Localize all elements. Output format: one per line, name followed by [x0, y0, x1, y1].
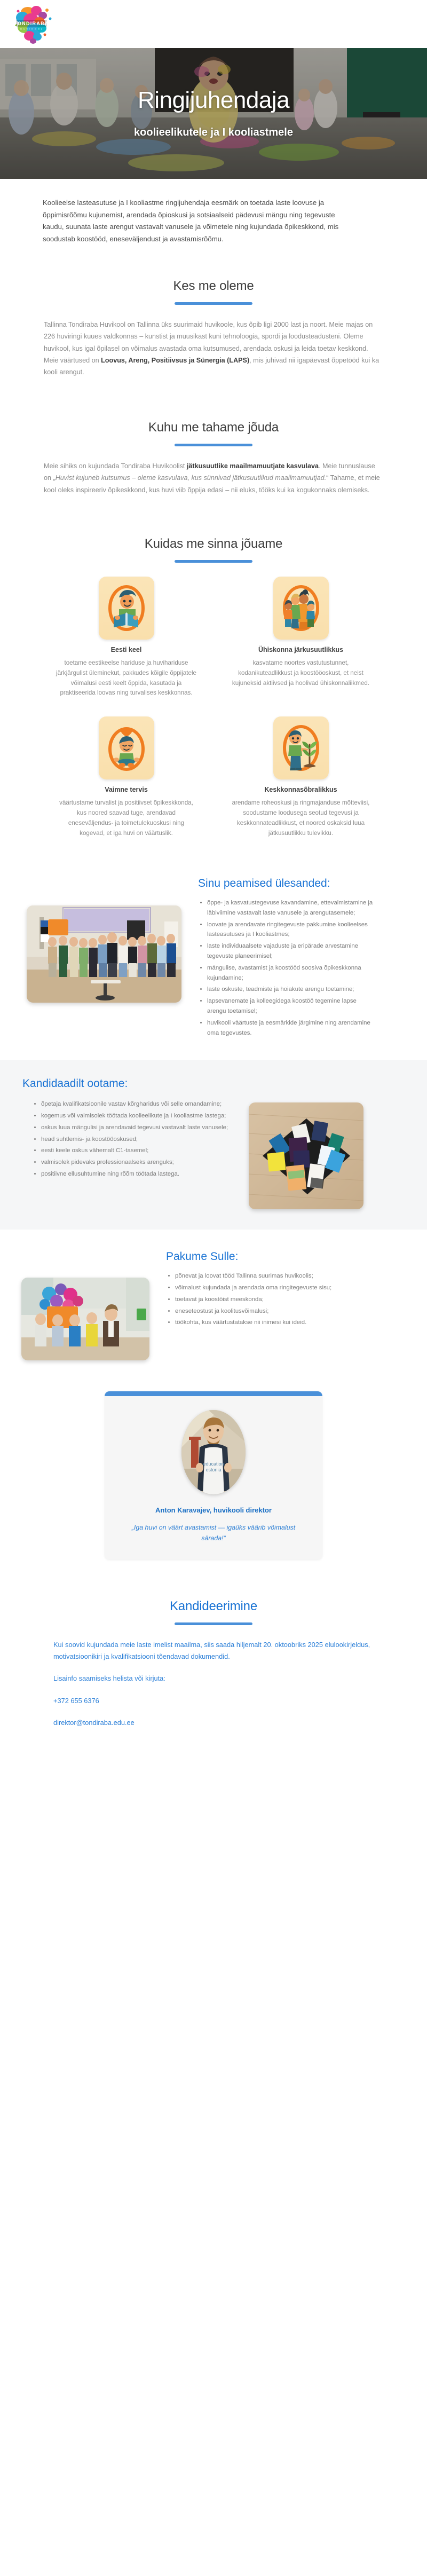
- card-title: Eesti keel: [53, 646, 199, 653]
- what-we-offer-list: põnevat ja loovat tööd Tallinna suurimas…: [166, 1271, 374, 1328]
- apply-section: Kandideerimine Kui soovid kujundada meie…: [0, 1578, 427, 1769]
- hero-title: Ringijuhendaja: [0, 88, 427, 113]
- intro-section: Koolieelse lasteasutuse ja I kooliastme …: [0, 179, 427, 267]
- card-description: arendame roheoskusi ja ringmajanduse mõt…: [228, 798, 374, 838]
- how-we-get-there-section: Kuidas me sinna jõuame: [0, 517, 427, 853]
- portrait-image: education estonia: [181, 1410, 246, 1494]
- card-description: kasvatame noortes vastutustunnet, kodani…: [228, 658, 374, 688]
- group-of-children-icon: [278, 581, 325, 635]
- card-title: Keskkonnasõbralikkus: [228, 786, 374, 793]
- main-tasks-heading: Sinu peamised ülesanded:: [198, 877, 374, 891]
- value-card: Keskkonnasõbralikkus arendame roheoskusi…: [228, 716, 374, 838]
- main-tasks-section: Sinu peamised ülesanded: õppe- ja kasvat…: [0, 853, 427, 1060]
- quote-text: „Iga huvi on väärt avastamist — igaüks v…: [121, 1523, 306, 1543]
- list-item: eesti keele oskus vähemalt C1-tasemel;: [41, 1146, 235, 1156]
- list-item: eneseteostust ja koolitusvõimalusi;: [175, 1306, 374, 1317]
- value-cards-grid: Eesti keel toetame eestikeelse hariduse …: [53, 577, 374, 838]
- hero-subtitle: koolieelikutele ja I kooliastmele: [0, 127, 427, 139]
- goal-text-1: Meie sihiks on kujundada Tondiraba Huvik…: [44, 462, 187, 470]
- list-item: valmisolek pidevaks professionaalseks ar…: [41, 1157, 235, 1168]
- what-we-offer-section: Pakume Sulle: põnevat ja loovat tööd Tal…: [0, 1230, 427, 1378]
- card-icon-frame: [273, 577, 329, 640]
- list-item: õppe- ja kasvatustegevuse kavandamine, e…: [207, 898, 374, 918]
- anton-karavajev-portrait: education estonia: [181, 1410, 246, 1494]
- who-we-are-section: Kes me oleme Tallinna Tondiraba Huvikool…: [0, 267, 427, 397]
- main-tasks-list: õppe- ja kasvatustegevuse kavandamine, e…: [198, 898, 374, 1038]
- card-description: väärtustame turvalist ja positiivset õpi…: [53, 798, 199, 838]
- section-divider-rule: [175, 560, 252, 563]
- books-on-floor-photo: [249, 1102, 363, 1209]
- director-quote-section: education estonia Anton Karavajev, huvik…: [0, 1378, 427, 1577]
- who-we-are-title: Kes me oleme: [0, 279, 427, 294]
- meditating-child-heart-icon: [103, 721, 150, 775]
- value-card: Eesti keel toetame eestikeelse hariduse …: [53, 577, 199, 698]
- who-we-are-paragraph: Tallinna Tondiraba Huvikool on Tallinna …: [44, 319, 383, 379]
- list-item: lapsevanemate ja kolleegidega koostöö te…: [207, 996, 374, 1017]
- tondiraba-logo[interactable]: TONDIRABA H U V I K O O L: [12, 4, 61, 44]
- candidate-expectations-section: Kandidaadilt ootame: õpetaja kvalifikats…: [0, 1060, 427, 1230]
- card-title: Ühiskonna järkusuutlikkus: [228, 646, 374, 653]
- team-group-photo-image: [27, 905, 181, 1003]
- goal-slogan: Huvist kujuneb kutsumus – oleme kasvulav…: [56, 474, 327, 482]
- who-we-are-values: Loovus, Areng, Positiivsus ja Sünergia (…: [101, 357, 249, 364]
- section-divider-rule: [175, 302, 252, 305]
- child-planting-tree-icon: [278, 721, 325, 775]
- how-title: Kuidas me sinna jõuame: [0, 537, 427, 552]
- logo-subwordmark: H U V I K O O L: [20, 28, 43, 30]
- quote-author-name: Anton Karavajev, huvikooli direktor: [121, 1506, 306, 1514]
- email-link[interactable]: direktor@tondiraba.edu.ee: [53, 1719, 135, 1727]
- site-header: TONDIRABA H U V I K O O L: [0, 0, 427, 48]
- logo-wordmark: TONDIRABA: [14, 21, 49, 26]
- list-item: õpetaja kvalifikatsioonile vastav kõrgha…: [41, 1099, 235, 1109]
- list-item: kogemus või valmisolek töötada koolieeli…: [41, 1111, 235, 1121]
- intro-paragraph: Koolieelse lasteasutuse ja I kooliastme …: [43, 197, 344, 246]
- list-item: põnevat ja loovat tööd Tallinna suurimas…: [175, 1271, 374, 1281]
- apply-paragraph: Kui soovid kujundada meie laste imelist …: [53, 1639, 374, 1663]
- candidate-expectations-heading: Kandidaadilt ootame:: [22, 1077, 235, 1091]
- list-item: laste individuaalsete vajaduste ja eripä…: [207, 941, 374, 962]
- section-divider-rule: [175, 1622, 252, 1625]
- goal-paragraph: Meie sihiks on kujundada Tondiraba Huvik…: [44, 460, 383, 496]
- list-item: laste oskuste, teadmiste ja hoiakute are…: [207, 984, 374, 995]
- section-divider-rule: [175, 444, 252, 446]
- hero-banner: Ringijuhendaja koolieelikutele ja I kool…: [0, 48, 427, 179]
- list-item: võimalust kujundada ja arendada oma ring…: [175, 1283, 374, 1293]
- list-item: loovate ja arendavate ringitegevuste pak…: [207, 920, 374, 940]
- card-icon-frame: [99, 716, 154, 779]
- list-item: oskus luua mängulisi ja arendavaid tegev…: [41, 1123, 235, 1133]
- card-icon-frame: [273, 716, 329, 779]
- list-item: töökohta, kus väärtustatakse nii inimesi…: [175, 1318, 374, 1328]
- tshirt-text-line1: education: [203, 1461, 224, 1467]
- quote-card: education estonia Anton Karavajev, huvik…: [105, 1391, 322, 1559]
- child-reading-book-icon: [103, 581, 150, 635]
- list-item: positiivne ellusuhtumine ning rõõm tööta…: [41, 1169, 235, 1179]
- what-we-offer-heading: Pakume Sulle:: [166, 1250, 374, 1264]
- list-item: huvikooli väärtuste ja eesmärkide järgim…: [207, 1018, 374, 1038]
- phone-link[interactable]: +372 655 6376: [53, 1697, 99, 1705]
- books-on-floor-image: [249, 1102, 363, 1209]
- apply-contact-label: Lisainfo saamiseks helista või kirjuta:: [53, 1673, 374, 1684]
- tshirt-text-line2: estonia: [205, 1467, 221, 1472]
- logo-splash-icon: TONDIRABA H U V I K O O L: [12, 4, 61, 44]
- card-icon-frame: [99, 577, 154, 640]
- value-card: Vaimne tervis väärtustame turvalist ja p…: [53, 716, 199, 838]
- job-posting-page: TONDIRABA H U V I K O O L: [0, 0, 427, 1769]
- candidate-expectations-list: õpetaja kvalifikatsioonile vastav kõrgha…: [32, 1099, 235, 1179]
- goal-section: Kuhu me tahame jõuda Meie sihiks on kuju…: [0, 397, 427, 517]
- team-with-balloons-image: [21, 1278, 149, 1360]
- apply-title: Kandideerimine: [0, 1599, 427, 1614]
- card-description: toetame eestikeelse hariduse ja huvihari…: [53, 658, 199, 698]
- team-with-balloons-photo: [21, 1278, 149, 1360]
- goal-title: Kuhu me tahame jõuda: [0, 420, 427, 435]
- value-card: Ühiskonna järkusuutlikkus kasvatame noor…: [228, 577, 374, 698]
- goal-bold-1: jätkusuutlike maailmamuutjate kasvulava: [187, 462, 319, 470]
- list-item: mängulise, avastamist ja koostööd soosiv…: [207, 963, 374, 983]
- team-group-photo: [27, 905, 181, 1003]
- card-title: Vaimne tervis: [53, 786, 199, 793]
- list-item: toetavat ja koostöist meeskonda;: [175, 1295, 374, 1305]
- list-item: head suhtlemis- ja koostööoskused;: [41, 1135, 235, 1145]
